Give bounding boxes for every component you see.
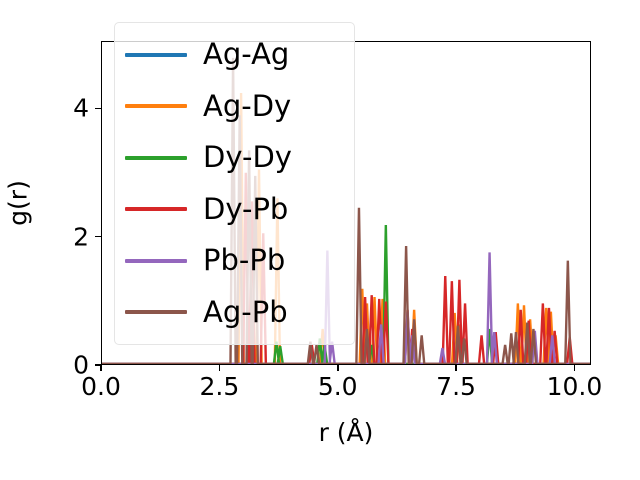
y-tick-label: 4: [73, 96, 89, 121]
legend-item-dy-dy[interactable]: Dy-Dy: [125, 134, 344, 182]
legend-color-swatch: [125, 156, 187, 160]
y-tick-mark: [95, 364, 101, 366]
y-tick-label: 2: [73, 224, 89, 249]
legend-color-swatch: [125, 104, 187, 108]
legend-item-label: Ag-Dy: [203, 92, 291, 121]
figure-canvas: 0.02.55.07.510.0 024 r (Å) g(r) Ag-AgAg-…: [0, 0, 640, 480]
y-tick-mark: [95, 108, 101, 110]
x-tick-mark: [100, 365, 102, 371]
legend-color-swatch: [125, 207, 187, 211]
y-tick-label: 0: [73, 353, 89, 378]
legend-color-swatch: [125, 53, 187, 57]
legend-item-dy-pb[interactable]: Dy-Pb: [125, 185, 344, 233]
legend-color-swatch: [125, 310, 187, 314]
legend-item-label: Pb-Pb: [203, 246, 285, 275]
legend-item-ag-ag[interactable]: Ag-Ag: [125, 31, 344, 79]
x-tick-mark: [574, 365, 576, 371]
legend-box: Ag-AgAg-DyDy-DyDy-PbPb-PbAg-Pb: [114, 22, 355, 345]
legend-item-label: Ag-Ag: [203, 40, 289, 69]
legend-item-pb-pb[interactable]: Pb-Pb: [125, 237, 344, 285]
legend-item-label: Dy-Pb: [203, 195, 288, 224]
x-axis-label: r (Å): [319, 418, 374, 447]
legend-item-label: Dy-Dy: [203, 143, 292, 172]
x-tick-mark: [455, 365, 457, 371]
x-tick-label: 7.5: [436, 374, 476, 399]
x-tick-mark: [337, 365, 339, 371]
x-tick-label: 10.0: [547, 374, 603, 399]
y-tick-mark: [95, 236, 101, 238]
legend-item-ag-dy[interactable]: Ag-Dy: [125, 82, 344, 130]
y-axis-label: g(r): [4, 180, 33, 226]
x-tick-label: 2.5: [199, 374, 239, 399]
x-tick-label: 5.0: [318, 374, 358, 399]
legend-item-label: Ag-Pb: [203, 298, 288, 327]
x-tick-mark: [219, 365, 221, 371]
legend-item-ag-pb[interactable]: Ag-Pb: [125, 288, 344, 336]
legend-color-swatch: [125, 259, 187, 263]
